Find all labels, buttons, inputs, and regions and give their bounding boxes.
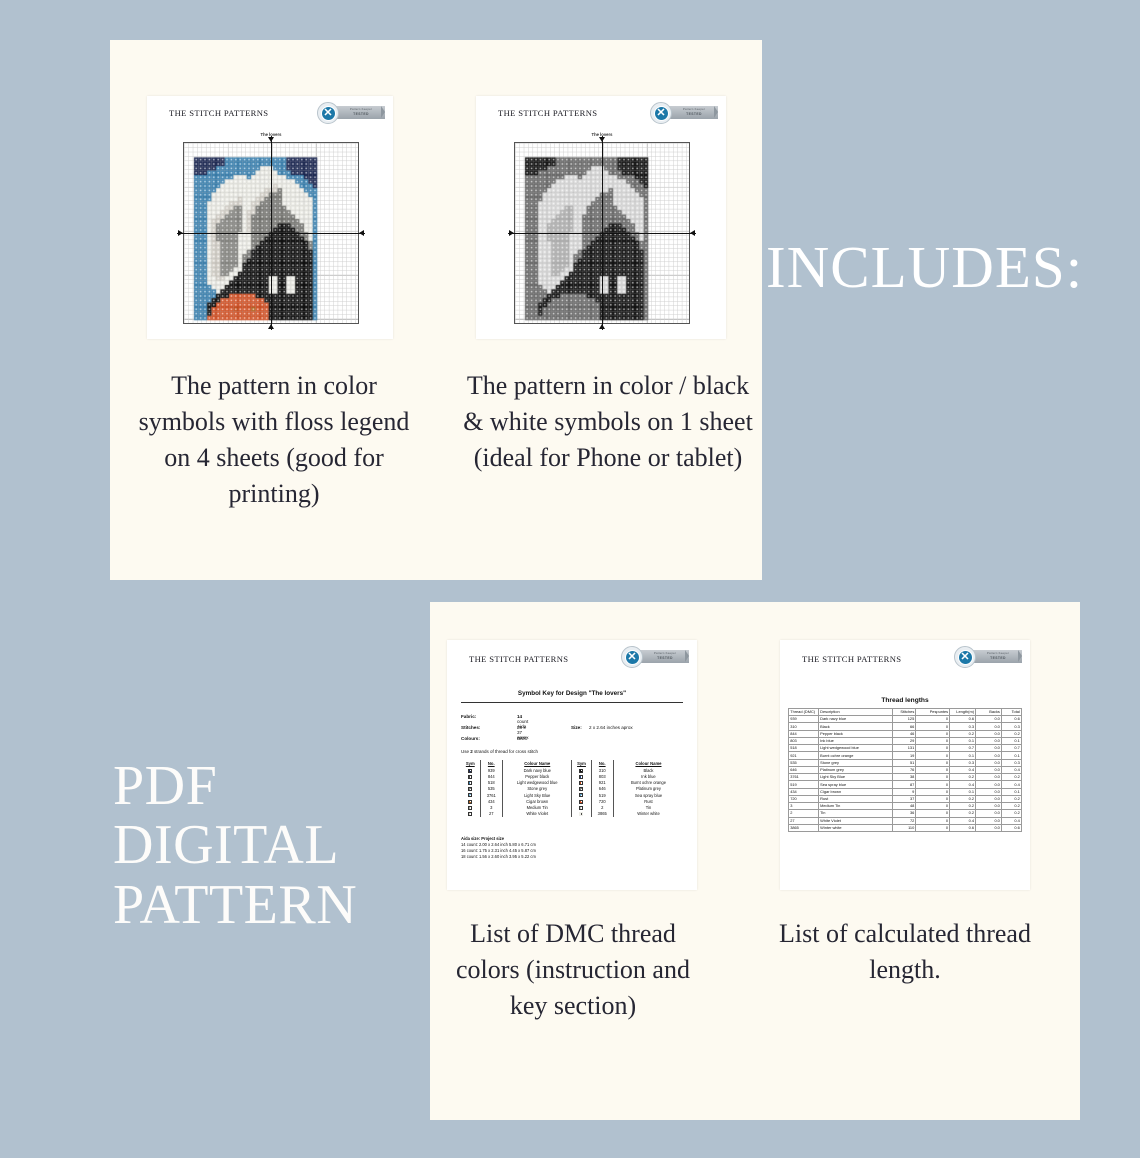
- table-cell: Burnt ochre orange: [818, 752, 892, 759]
- table-row: 3865Winter white11000.60.00.6: [789, 824, 1022, 831]
- table-cell: Winter white: [613, 811, 683, 817]
- x-seal-icon: ✕: [621, 646, 643, 668]
- table-cell: 0.0: [976, 752, 1002, 759]
- table-cell: White Violet: [818, 817, 892, 824]
- badge-ribbon-bottom-text: TESTED: [341, 112, 381, 116]
- badge-ribbon-bottom-text: TESTED: [645, 656, 685, 660]
- table-cell: 125: [892, 716, 916, 723]
- col-name-left: Colour Name: [502, 760, 572, 767]
- center-marker-bottom-icon: [599, 324, 605, 329]
- table-cell: 0.2: [950, 803, 976, 810]
- center-marker-bottom-icon: [268, 324, 274, 329]
- badge-ribbon-top-text: Pattern Keeper: [341, 107, 381, 111]
- caption-dmc-list: List of DMC thread colors (instruction a…: [448, 916, 698, 1024]
- table-cell: Platinum grey: [818, 766, 892, 773]
- table-cell: 0.0: [976, 759, 1002, 766]
- fabric-row: Fabric: 14 count Aida: [461, 714, 476, 719]
- table-cell: Dark navy blue: [818, 716, 892, 723]
- table-cell: 0.0: [976, 723, 1002, 730]
- symbol-swatch: [461, 811, 480, 817]
- table-cell: 66: [892, 723, 916, 730]
- table-cell: 37: [892, 795, 916, 802]
- table-row: 518Light wedgewood blue13100.70.00.7: [789, 745, 1022, 752]
- table-cell: 803: [789, 737, 819, 744]
- table-cell: 0.0: [976, 824, 1002, 831]
- table-cell: 0.6: [1002, 824, 1022, 831]
- table-cell: 0: [916, 730, 950, 737]
- table-cell: 0.1: [1002, 788, 1022, 795]
- aida-title: Aida size: Project size: [461, 836, 504, 841]
- table-cell: 0.0: [976, 774, 1002, 781]
- table-row: 939Dark navy blue12500.60.00.6: [789, 716, 1022, 723]
- table-cell: 3: [789, 803, 819, 810]
- column-header: Pespuntes: [916, 709, 950, 716]
- table-cell: 0.0: [976, 716, 1002, 723]
- table-cell: 0.2: [950, 795, 976, 802]
- table-cell: 720: [789, 795, 819, 802]
- table-cell: 0: [916, 766, 950, 773]
- center-marker-left-icon: [509, 230, 514, 236]
- col-sym-left: Sym: [461, 760, 480, 767]
- column-header: Stitches: [892, 709, 916, 716]
- table-cell: 3865: [789, 824, 819, 831]
- column-header: Length(m): [950, 709, 976, 716]
- table-cell: 48: [892, 803, 916, 810]
- table-cell: Rust: [818, 795, 892, 802]
- table-cell: 0: [916, 723, 950, 730]
- table-cell: 0: [916, 759, 950, 766]
- badge-ribbon-top-text: Pattern Keeper: [978, 651, 1018, 655]
- colours-label: Colours:: [461, 736, 480, 741]
- thread-lengths-heading: Thread lengths: [780, 697, 1030, 704]
- pattern-keeper-tested-badge: Pattern Keeper TESTED ✕: [954, 646, 1022, 668]
- table-cell: 0.0: [976, 795, 1002, 802]
- table-header-row: Thread (DMC)DescriptionStitchesPespuntes…: [789, 709, 1022, 716]
- table-row: 646Platinum grey7600.40.00.4: [789, 766, 1022, 773]
- table-cell: 535: [789, 759, 819, 766]
- table-cell: 0.1: [950, 752, 976, 759]
- includes-heading: INCLUDES:: [766, 238, 1083, 297]
- badge-ribbon-top-text: Pattern Keeper: [674, 107, 714, 111]
- table-cell: 0: [916, 803, 950, 810]
- table-cell: 0: [916, 788, 950, 795]
- symbol-key-table: Sym No. Colour Name Sym No. Colour Name …: [461, 760, 683, 817]
- table-cell: 310: [789, 723, 819, 730]
- table-cell: 519: [789, 781, 819, 788]
- pdf-line-2: DIGITAL: [113, 816, 357, 875]
- preview-sheet-bw-chart[interactable]: THE STITCH PATTERNS Pattern Keeper TESTE…: [476, 96, 726, 339]
- table-cell: 0.2: [950, 774, 976, 781]
- table-cell: 0: [916, 781, 950, 788]
- table-cell: 0: [916, 795, 950, 802]
- badge-ribbon-bottom-text: TESTED: [674, 112, 714, 116]
- symbol-swatch: [572, 811, 591, 817]
- table-cell: 0.4: [1002, 781, 1022, 788]
- table-cell: 0.0: [976, 788, 1002, 795]
- column-header: Backs: [976, 709, 1002, 716]
- table-cell: 646: [789, 766, 819, 773]
- fabric-label: Fabric:: [461, 714, 476, 719]
- table-cell: 76: [892, 766, 916, 773]
- symbol-key-heading: Symbol Key for Design "The lovers": [447, 690, 697, 697]
- chart-axis-vertical: [602, 136, 603, 330]
- table-cell: Cigar brown: [818, 788, 892, 795]
- table-row: 27White Violet7200.40.00.4: [789, 817, 1022, 824]
- sheet-brand-title: THE STITCH PATTERNS: [469, 654, 568, 664]
- colours-row: Colours: DMC: [461, 736, 480, 741]
- size-label: Size:: [571, 725, 582, 730]
- size-row: Size: 2 x 2.64 inches aprox: [571, 725, 633, 730]
- strands-note: Use 2 strands of thread for cross stitch: [461, 749, 538, 754]
- table-cell: 0.1: [1002, 752, 1022, 759]
- col-no-right: No.: [591, 760, 613, 767]
- table-cell: Ink blue: [818, 737, 892, 744]
- stitches-label: Stitches:: [461, 725, 480, 730]
- center-marker-right-icon: [359, 230, 364, 236]
- table-cell: 87: [892, 781, 916, 788]
- table-row: 535Stone grey5100.30.00.3: [789, 759, 1022, 766]
- table-cell: 0.2: [1002, 795, 1022, 802]
- size-value: 2 x 2.64 inches aprox: [589, 725, 633, 730]
- table-row: 844Pepper black4600.20.00.2: [789, 730, 1022, 737]
- table-cell: 0.2: [1002, 774, 1022, 781]
- x-seal-icon: ✕: [650, 102, 672, 124]
- table-cell: 0.2: [1002, 803, 1022, 810]
- table-cell: 844: [789, 730, 819, 737]
- table-cell: 0.0: [976, 737, 1002, 744]
- table-cell: 0.6: [950, 716, 976, 723]
- table-cell: Winter white: [818, 824, 892, 831]
- table-row: 310Black6600.30.00.3: [789, 723, 1022, 730]
- table-cell: 0.0: [976, 730, 1002, 737]
- table-cell: 0.3: [1002, 723, 1022, 730]
- pattern-keeper-tested-badge: Pattern Keeper TESTED ✕: [317, 102, 385, 124]
- x-seal-icon: ✕: [954, 646, 976, 668]
- table-cell: 0.3: [950, 723, 976, 730]
- table-cell: 434: [789, 788, 819, 795]
- table-cell: 38: [892, 774, 916, 781]
- table-cell: Sea spray blue: [818, 781, 892, 788]
- table-cell: 3761: [789, 774, 819, 781]
- table-cell: 0: [916, 824, 950, 831]
- table-cell: 0.3: [1002, 759, 1022, 766]
- strands-note-pre: Use: [461, 749, 470, 754]
- sheet-brand-title: THE STITCH PATTERNS: [498, 108, 597, 118]
- table-row: 2Tin3600.20.00.2: [789, 810, 1022, 817]
- pattern-keeper-tested-badge: Pattern Keeper TESTED ✕: [650, 102, 718, 124]
- table-cell: 2: [789, 810, 819, 817]
- table-cell: 0.2: [1002, 730, 1022, 737]
- center-marker-right-icon: [690, 230, 695, 236]
- column-header: Total: [1002, 709, 1022, 716]
- center-marker-left-icon: [178, 230, 183, 236]
- table-cell: 110: [892, 824, 916, 831]
- table-cell: 9: [892, 788, 916, 795]
- sheet-brand-title: THE STITCH PATTERNS: [169, 108, 268, 118]
- table-cell: 131: [892, 745, 916, 752]
- table-cell: 0.0: [976, 803, 1002, 810]
- table-cell: Light Sky Blue: [818, 774, 892, 781]
- col-no-left: No.: [480, 760, 502, 767]
- table-cell: 0.6: [950, 824, 976, 831]
- table-cell: Tin: [818, 810, 892, 817]
- column-header: Thread (DMC): [789, 709, 819, 716]
- table-cell: 0.7: [950, 745, 976, 752]
- table-cell: Black: [818, 723, 892, 730]
- preview-sheet-color-chart[interactable]: THE STITCH PATTERNS Pattern Keeper TESTE…: [147, 96, 393, 339]
- caption-thread-length: List of calculated thread length.: [770, 916, 1040, 988]
- table-cell: 939: [789, 716, 819, 723]
- table-cell: White Violet: [502, 811, 572, 817]
- table-cell: 0.4: [950, 781, 976, 788]
- bw-chart-grid: The lovers: [514, 142, 690, 324]
- preview-sheet-thread-lengths[interactable]: THE STITCH PATTERNS Pattern Keeper TESTE…: [780, 640, 1030, 890]
- table-cell: 0.0: [976, 745, 1002, 752]
- table-cell: Stone grey: [818, 759, 892, 766]
- table-cell: 0.4: [1002, 766, 1022, 773]
- table-cell: 0.2: [1002, 810, 1022, 817]
- table-cell: 0: [916, 737, 950, 744]
- table-row: 803Ink blue2900.10.00.1: [789, 737, 1022, 744]
- strands-note-post: strands of thread for cross stitch: [473, 749, 538, 754]
- table-cell: 0.1: [950, 737, 976, 744]
- table-cell: 3865: [591, 811, 613, 817]
- table-cell: 0: [916, 752, 950, 759]
- table-cell: 0.7: [1002, 745, 1022, 752]
- table-cell: 0.3: [950, 759, 976, 766]
- table-row: 434Cigar brown900.10.00.1: [789, 788, 1022, 795]
- table-row: 921Burnt ochre orange1900.10.00.1: [789, 752, 1022, 759]
- caption-bw-symbols: The pattern in color / black & white sym…: [462, 368, 754, 476]
- table-cell: 0.4: [950, 766, 976, 773]
- table-cell: 921: [789, 752, 819, 759]
- color-chart-grid: The lovers: [183, 142, 359, 324]
- pdf-line-1: PDF: [113, 757, 357, 816]
- table-cell: 0.0: [976, 817, 1002, 824]
- bottom-feature-panel: THE STITCH PATTERNS Pattern Keeper TESTE…: [430, 602, 1080, 1120]
- table-cell: 0: [916, 817, 950, 824]
- badge-ribbon-bottom-text: TESTED: [978, 656, 1018, 660]
- preview-sheet-symbol-key[interactable]: THE STITCH PATTERNS Pattern Keeper TESTE…: [447, 640, 697, 890]
- table-cell: 27: [480, 811, 502, 817]
- table-cell: 0: [916, 716, 950, 723]
- table-cell: 0.4: [950, 817, 976, 824]
- table-cell: Light wedgewood blue: [818, 745, 892, 752]
- table-cell: 0.1: [1002, 737, 1022, 744]
- table-cell: 36: [892, 810, 916, 817]
- table-cell: Medium Tin: [818, 803, 892, 810]
- table-cell: Pepper black: [818, 730, 892, 737]
- table-cell: 0.2: [950, 810, 976, 817]
- pdf-line-3: PATTERN: [113, 876, 357, 935]
- table-row: 3Medium Tin4800.20.00.2: [789, 803, 1022, 810]
- aida-size-line: 18 count: 1.56 x 2.60 inch 3.95 x 5.22 c…: [461, 854, 536, 860]
- chart-axis-vertical: [271, 136, 272, 330]
- x-seal-icon: ✕: [317, 102, 339, 124]
- aida-size-block: Aida size: Project size 14 count: 2.00 x…: [461, 836, 536, 861]
- column-header: Description: [818, 709, 892, 716]
- divider: [461, 702, 683, 703]
- pattern-keeper-tested-badge: Pattern Keeper TESTED ✕: [621, 646, 689, 668]
- badge-ribbon-top-text: Pattern Keeper: [645, 651, 685, 655]
- center-marker-top-icon: [268, 137, 274, 142]
- colours-value: DMC: [517, 736, 527, 741]
- table-cell: 0.1: [950, 788, 976, 795]
- table-cell: 0: [916, 745, 950, 752]
- table-cell: 0: [916, 774, 950, 781]
- center-marker-top-icon: [599, 137, 605, 142]
- table-header-row: Sym No. Colour Name Sym No. Colour Name: [461, 760, 683, 767]
- table-cell: 19: [892, 752, 916, 759]
- table-cell: 27: [789, 817, 819, 824]
- table-row: 27White Violet3865Winter white: [461, 811, 683, 817]
- table-cell: 46: [892, 730, 916, 737]
- sheet-brand-title: THE STITCH PATTERNS: [802, 654, 901, 664]
- table-row: 720Rust3700.20.00.2: [789, 795, 1022, 802]
- table-cell: 0.6: [1002, 716, 1022, 723]
- table-row: 3761Light Sky Blue3800.20.00.2: [789, 774, 1022, 781]
- table-cell: 0: [916, 810, 950, 817]
- table-cell: 0.0: [976, 766, 1002, 773]
- col-sym-right: Sym: [572, 760, 591, 767]
- table-cell: 518: [789, 745, 819, 752]
- table-cell: 0.0: [976, 781, 1002, 788]
- table-row: 519Sea spray blue8700.40.00.4: [789, 781, 1022, 788]
- stitches-row: Stitches: 28 x 37 aprox: [461, 725, 480, 730]
- table-cell: 72: [892, 817, 916, 824]
- caption-color-symbols: The pattern in color symbols with floss …: [132, 368, 416, 512]
- table-cell: 0.2: [950, 730, 976, 737]
- table-cell: 0.4: [1002, 817, 1022, 824]
- table-cell: 0.0: [976, 810, 1002, 817]
- table-cell: 29: [892, 737, 916, 744]
- table-cell: 51: [892, 759, 916, 766]
- col-name-right: Colour Name: [613, 760, 683, 767]
- thread-lengths-table: Thread (DMC)DescriptionStitchesPespuntes…: [788, 708, 1022, 832]
- pdf-digital-pattern-heading: PDF DIGITAL PATTERN: [113, 757, 357, 935]
